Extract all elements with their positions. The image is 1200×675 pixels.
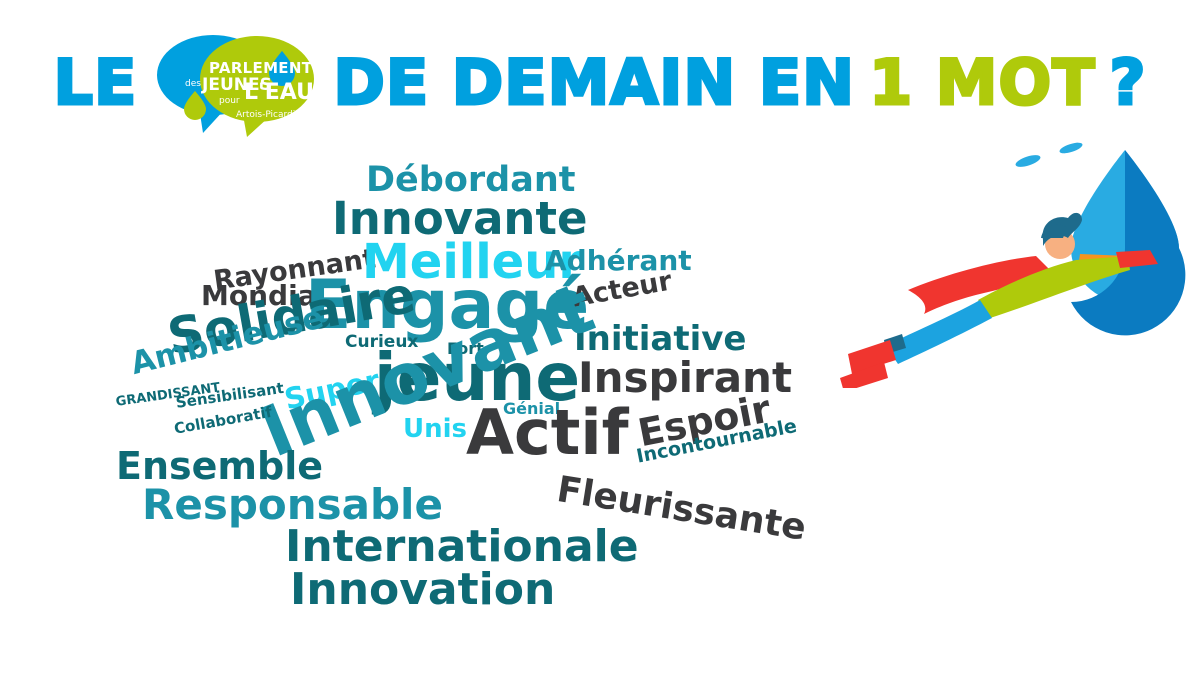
- poster-canvas: LE: [0, 0, 1200, 675]
- cloud-word: Internationale: [285, 525, 639, 569]
- hero-hair-back: [1041, 224, 1067, 238]
- cloud-word: Actif: [466, 402, 629, 464]
- hero-legs: [886, 300, 992, 364]
- cloud-word: Unis: [403, 416, 467, 442]
- cloud-word: Responsable: [142, 484, 443, 526]
- cloud-word: Innovation: [290, 568, 555, 612]
- splash-dot-1: [1014, 153, 1042, 170]
- splash-dot-2: [1058, 140, 1083, 155]
- hero-illustration: [828, 128, 1188, 388]
